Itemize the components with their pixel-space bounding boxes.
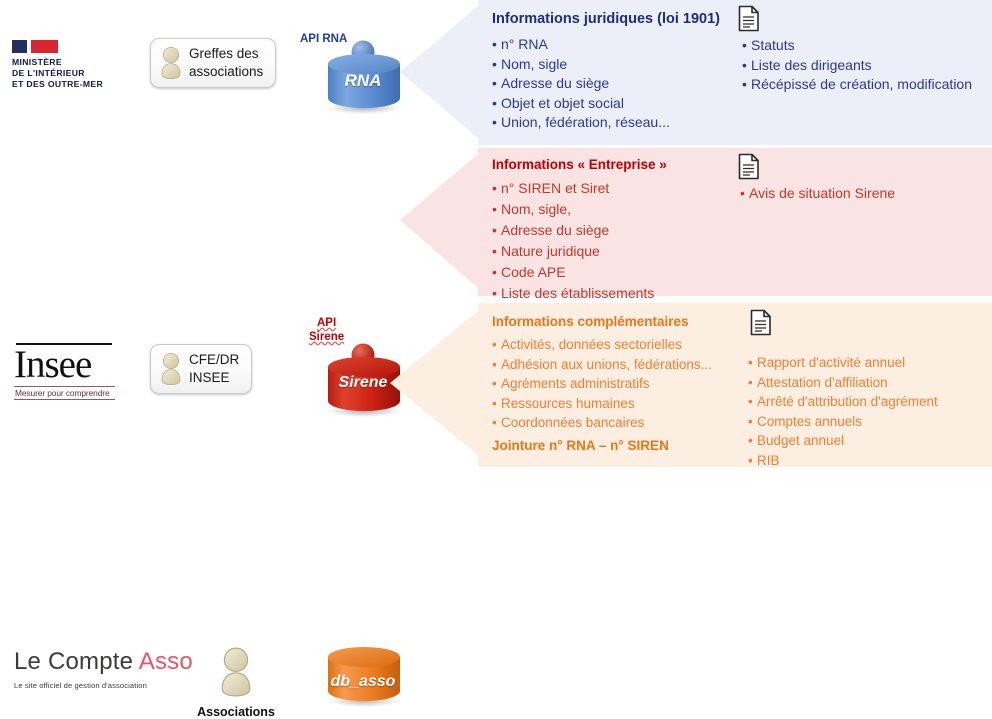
panel-db-asso-bullets-right: Rapport d'activité annuel Attestation d'…: [748, 353, 938, 470]
bullet-item: Adhésion aux unions, fédérations...: [492, 355, 712, 375]
diagram-row-rna: MINISTÈRE DE L'INTÉRIEUR ET DES OUTRE-ME…: [0, 0, 992, 145]
bullet-item: n° RNA: [492, 35, 670, 55]
bullet-item: Nom, sigle,: [492, 199, 654, 220]
lca-word-1: Le Compte: [14, 648, 139, 675]
bullet-item: Comptes annuels: [748, 412, 938, 432]
info-panel-sirene: Informations « Entreprise » n° SIREN et …: [400, 148, 992, 296]
panel-db-asso-note: Jointure n° RNA – n° SIREN: [492, 438, 669, 453]
actor-badge-greffes-label: Greffes des associations: [189, 45, 263, 81]
panel-title-sirene: Informations « Entreprise »: [492, 157, 667, 172]
document-icon: [750, 309, 772, 336]
panel-db-asso-bullets-left: Activités, données sectorielles Adhésion…: [492, 335, 712, 433]
bullet-item: Liste des dirigeants: [742, 56, 972, 76]
bullet-item: Avis de situation Sirene: [740, 183, 895, 204]
panel-sirene-bullets-left: n° SIREN et Siret Nom, sigle, Adresse du…: [492, 178, 654, 304]
actor-associations-label: Associations: [190, 705, 282, 719]
bullet-item: Union, fédération, réseau...: [492, 113, 670, 133]
bullet-item: Nature juridique: [492, 241, 654, 262]
bullet-item: Code APE: [492, 262, 654, 283]
ministere-interieur-logo: MINISTÈRE DE L'INTÉRIEUR ET DES OUTRE-ME…: [12, 40, 103, 90]
lca-word-2: Asso: [139, 648, 193, 675]
bullet-item: Adresse du siège: [492, 220, 654, 241]
bullet-item: Agréments administratifs: [492, 374, 712, 394]
database-cylinder-db-asso[interactable]: db_asso: [320, 643, 406, 705]
panel-rna-bullets-left: n° RNA Nom, sigle Adresse du siège Objet…: [492, 35, 670, 133]
info-panel-db-asso: Informations complémentaires Activités, …: [390, 303, 992, 467]
ministere-logo-text: MINISTÈRE DE L'INTÉRIEUR ET DES OUTRE-ME…: [12, 57, 103, 90]
info-panel-rna: Informations juridiques (loi 1901) n° RN…: [400, 0, 992, 145]
bullet-item: Nom, sigle: [492, 55, 670, 75]
bullet-item: Statuts: [742, 36, 972, 56]
panel-sirene-bullets-right: Avis de situation Sirene: [740, 183, 895, 204]
panel-rna-bullets-right: Statuts Liste des dirigeants Récépissé d…: [742, 36, 972, 95]
document-icon: [738, 153, 760, 180]
bullet-item: n° SIREN et Siret: [492, 178, 654, 199]
bullet-item: Récépissé de création, modification: [742, 75, 972, 95]
actor-badge-greffes[interactable]: Greffes des associations: [150, 38, 276, 88]
actor-line-1: Greffes des: [189, 46, 259, 61]
person-icon: [159, 46, 183, 80]
french-flag-icon: [12, 40, 58, 53]
bullet-item: Ressources humaines: [492, 394, 712, 414]
bullet-item: Adresse du siège: [492, 74, 670, 94]
ministere-line-1: MINISTÈRE: [12, 57, 103, 68]
panel-title-db-asso: Informations complémentaires: [492, 314, 689, 329]
bullet-item: Attestation d'affiliation: [748, 373, 938, 393]
bullet-item: Activités, données sectorielles: [492, 335, 712, 355]
bullet-item: RIB: [748, 451, 938, 471]
ministere-line-3: ET DES OUTRE-MER: [12, 79, 103, 90]
diagram-row-db-asso: Le Compte Asso Le site officiel de gesti…: [0, 303, 992, 467]
bullet-item: Budget annuel: [748, 431, 938, 451]
bullet-item: Rapport d'activité annuel: [748, 353, 938, 373]
bullet-item: Objet et objet social: [492, 94, 670, 114]
le-compte-asso-logo-tagline: Le site officiel de gestion d'associatio…: [14, 681, 193, 690]
bullet-item: Coordonnées bancaires: [492, 413, 712, 433]
ministere-line-2: DE L'INTÉRIEUR: [12, 68, 103, 79]
actor-line-2: associations: [189, 64, 263, 79]
document-icon: [738, 5, 760, 32]
le-compte-asso-logo: Le Compte Asso Le site officiel de gesti…: [14, 648, 193, 690]
bullet-item: Liste des établissements: [492, 283, 654, 304]
bullet-item: Arrêté d'attribution d'agrément: [748, 392, 938, 412]
panel-title-rna: Informations juridiques (loi 1901): [492, 11, 720, 27]
diagram-row-sirene: Insee Mesurer pour comprendre CFE/DR INS…: [0, 148, 992, 296]
person-icon: [217, 646, 255, 698]
actor-associations[interactable]: Associations: [190, 646, 282, 719]
database-cylinder-rna[interactable]: RNA: [320, 40, 406, 112]
le-compte-asso-logo-title: Le Compte Asso: [14, 648, 193, 676]
